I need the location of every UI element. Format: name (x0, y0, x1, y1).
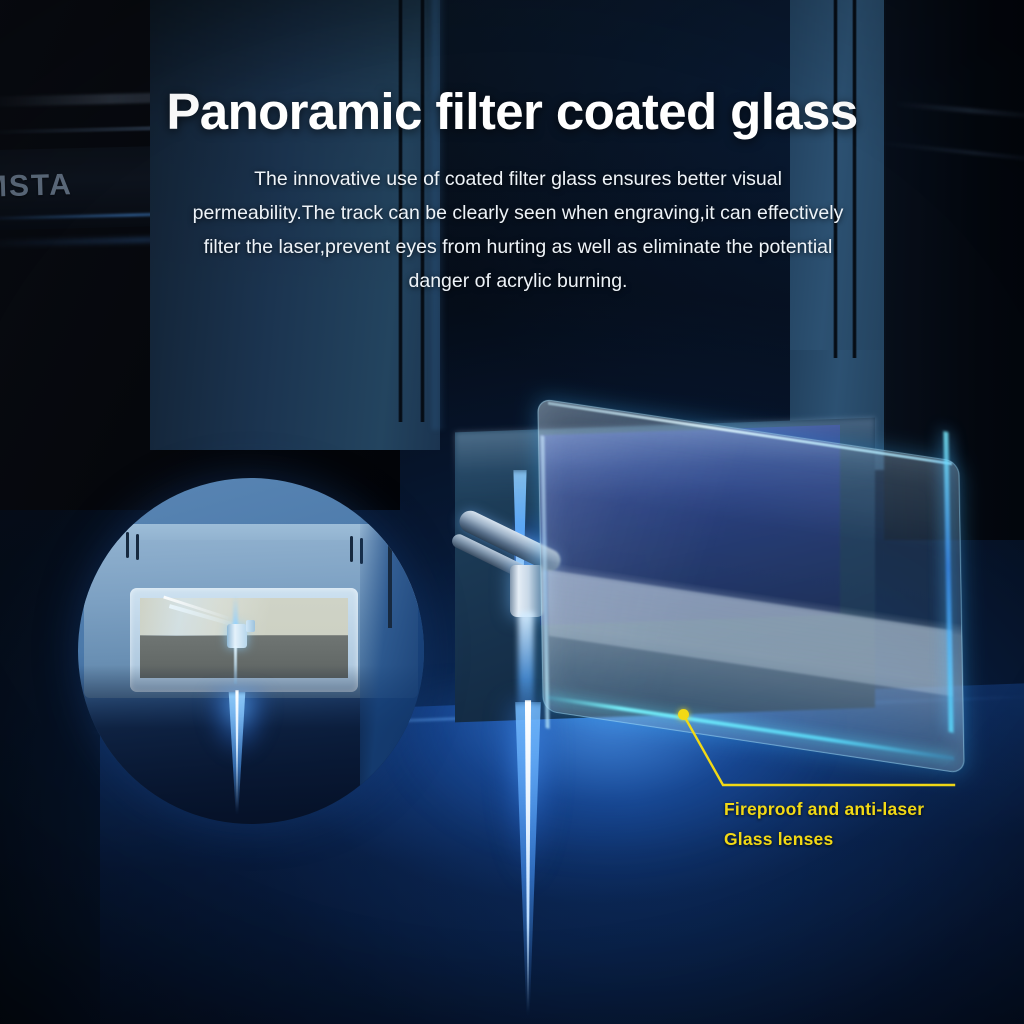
magnified-detail-inset (78, 478, 424, 824)
callout-label-line2: Glass lenses (724, 824, 1014, 854)
page-title: Panoramic filter coated glass (0, 82, 1024, 141)
inset-vent-slot (350, 536, 353, 562)
column-groove (852, 0, 857, 358)
inset-laser-nozzle (227, 624, 247, 648)
callout-anchor-dot (678, 709, 689, 720)
product-feature-banner: MSTA (0, 0, 1024, 1024)
callout-label: Fireproof and anti-laser Glass lenses (724, 794, 1014, 854)
inset-right-wall (360, 478, 424, 824)
inset-nozzle-tab (246, 620, 255, 632)
page-description: The innovative use of coated filter glas… (184, 162, 852, 298)
inset-wall-groove (388, 478, 392, 628)
laser-nozzle-head (510, 565, 544, 617)
inset-vent-slot (136, 534, 139, 560)
inset-vent-slot (126, 532, 129, 558)
callout-label-line1: Fireproof and anti-laser (724, 794, 1014, 824)
